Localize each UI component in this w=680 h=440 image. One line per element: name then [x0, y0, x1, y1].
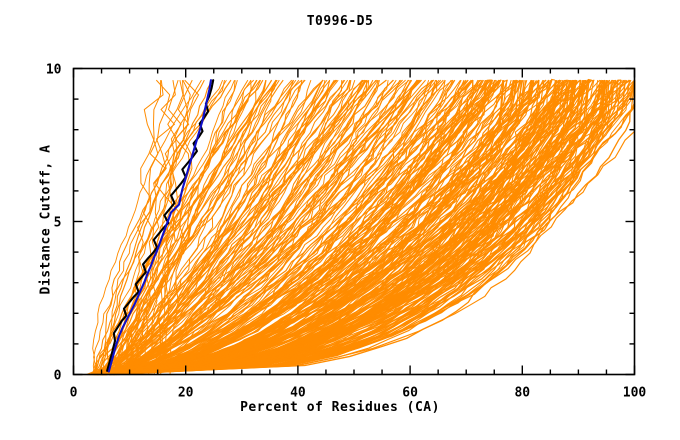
x-tick-label: 80 [514, 386, 530, 401]
x-tick-label: 40 [290, 386, 306, 401]
x-tick-label: 0 [70, 386, 78, 401]
x-tick-label: 20 [178, 386, 194, 401]
y-tick-label: 10 [46, 63, 62, 78]
chart-container: T0996-D5 Distance Cutoff, A Percent of R… [0, 0, 680, 440]
plot-canvas: 0204060801000510 [0, 0, 680, 440]
x-tick-label: 100 [623, 386, 647, 401]
model-curves-layer [86, 79, 634, 374]
y-tick-label: 5 [54, 216, 62, 231]
y-tick-label: 0 [54, 369, 62, 384]
x-tick-label: 60 [402, 386, 418, 401]
